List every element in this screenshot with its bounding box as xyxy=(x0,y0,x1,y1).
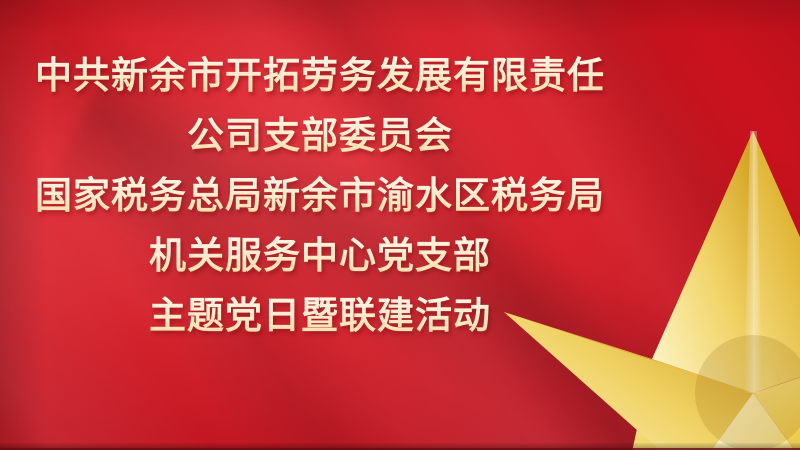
title-text-block: 中共新余市开拓劳务发展有限责任 公司支部委员会 国家税务总局新余市渝水区税务局 … xyxy=(0,0,640,450)
poster-banner: 中共新余市开拓劳务发展有限责任 公司支部委员会 国家税务总局新余市渝水区税务局 … xyxy=(0,0,800,450)
title-line-3: 国家税务总局新余市渝水区税务局 xyxy=(35,166,605,226)
title-line-5: 主题党日暨联建活动 xyxy=(149,286,491,346)
title-line-4: 机关服务中心党支部 xyxy=(149,226,491,286)
left-edge-shade xyxy=(0,0,46,450)
top-edge-shade xyxy=(0,0,800,34)
title-line-2: 公司支部委员会 xyxy=(187,106,453,166)
title-line-1: 中共新余市开拓劳务发展有限责任 xyxy=(35,46,605,106)
